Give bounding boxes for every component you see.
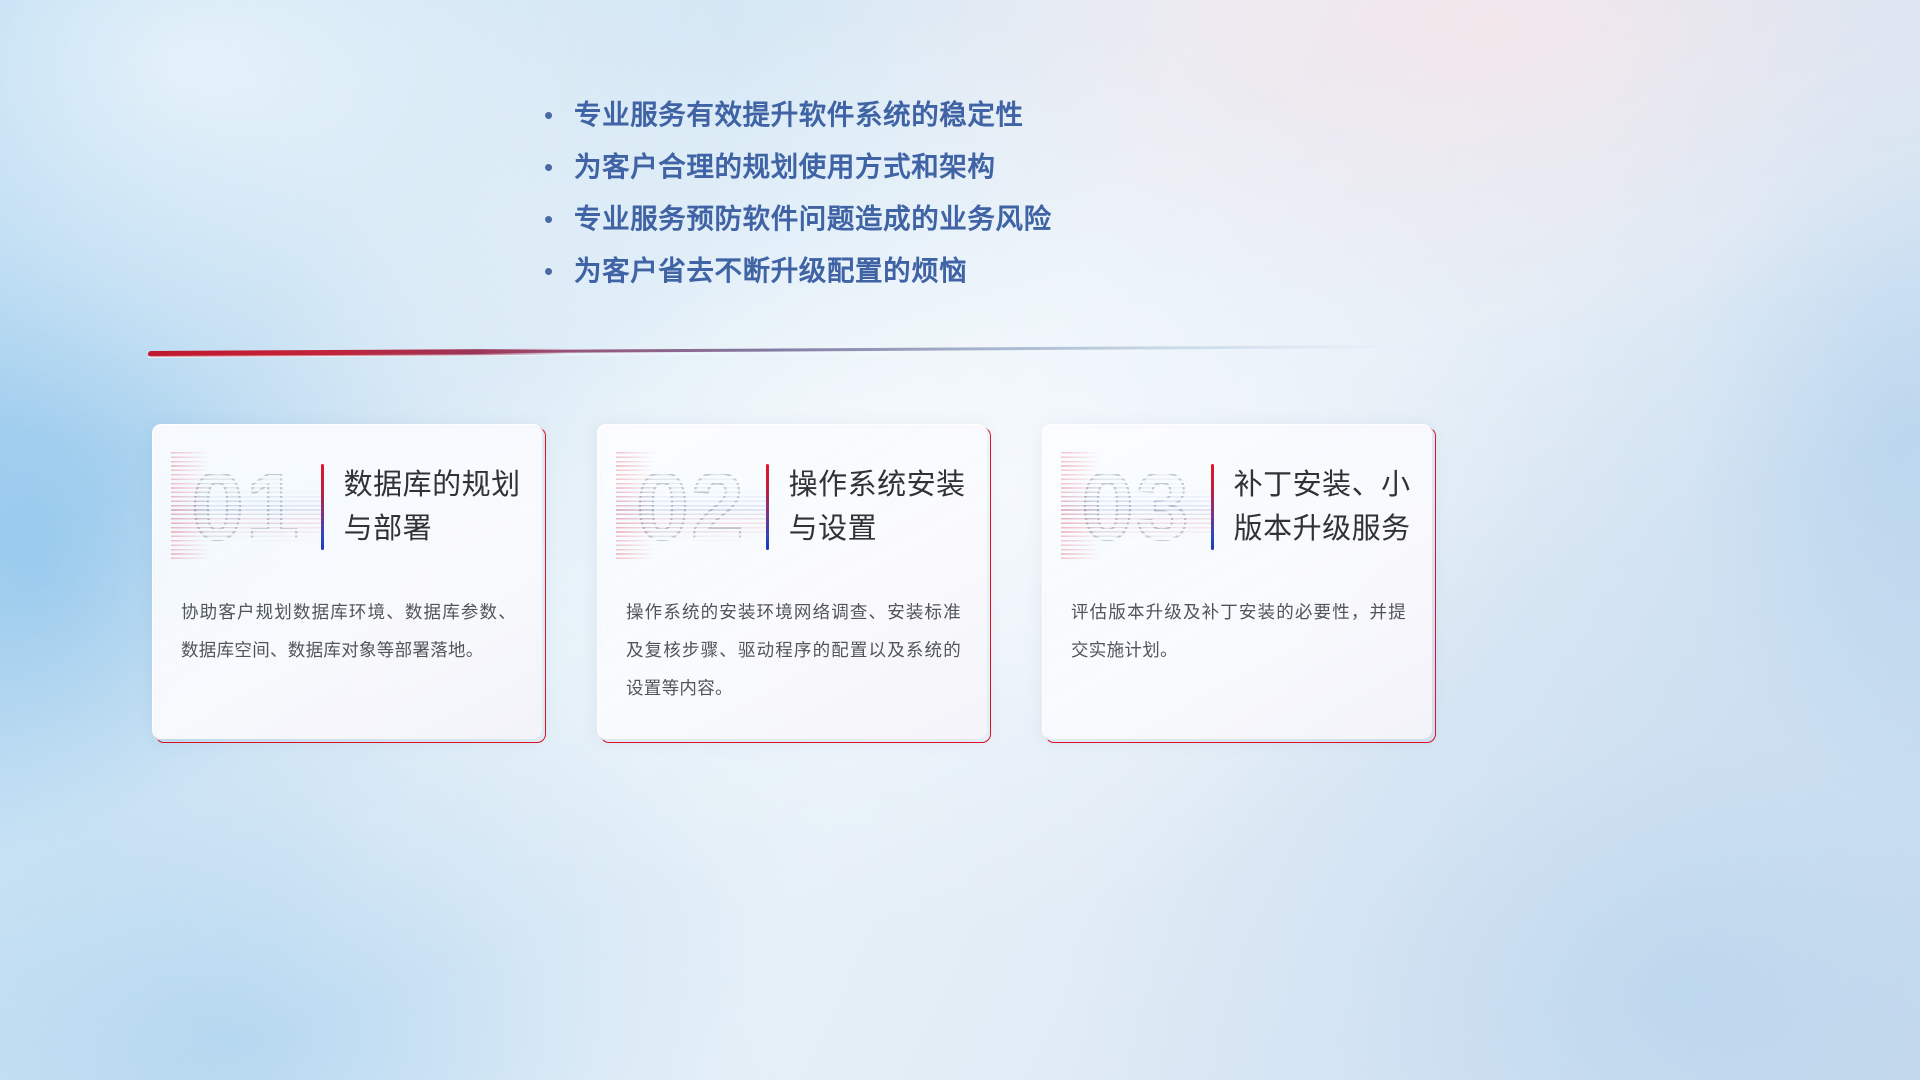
card-number-badge: 02 02 (616, 452, 766, 562)
bullet-dot-icon: • (540, 144, 574, 190)
bullet-item-1: • 专业服务有效提升软件系统的稳定性 (540, 92, 1400, 144)
card-title-line-2: 版本升级服务 (1234, 507, 1418, 551)
card-surface: 03 03 补丁安装、小 版本升级服务 评估版本升级及补丁安装的必要性，并提交实… (1042, 424, 1432, 739)
card-description: 操作系统的安装环境网络调查、安装标准及复核步骤、驱动程序的配置以及系统的设置等内… (626, 593, 961, 707)
card-title-line-1: 操作系统安装 (789, 463, 973, 507)
bullet-text-2: 为客户合理的规划使用方式和架构 (574, 144, 996, 190)
card-description: 协助客户规划数据库环境、数据库参数、数据库空间、数据库对象等部署落地。 (181, 593, 516, 669)
card-number-outline: 03 (1061, 452, 1211, 562)
service-card-01[interactable]: 01 01 数据库的规划 与部署 协助客户规划数据库环境、数据库参数、数据库空间… (152, 424, 542, 739)
benefits-bullet-list: • 专业服务有效提升软件系统的稳定性 • 为客户合理的规划使用方式和架构 • 专… (540, 92, 1400, 300)
card-title-line-1: 数据库的规划 (344, 463, 528, 507)
card-title: 数据库的规划 与部署 (344, 463, 542, 551)
slide-canvas: • 专业服务有效提升软件系统的稳定性 • 为客户合理的规划使用方式和架构 • 专… (0, 0, 1920, 1080)
card-header: 02 02 操作系统安装 与设置 (598, 447, 987, 567)
card-header: 01 01 数据库的规划 与部署 (153, 447, 542, 567)
card-surface: 02 02 操作系统安装 与设置 操作系统的安装环境网络调查、安装标准及复核步骤… (597, 424, 987, 739)
card-header: 03 03 补丁安装、小 版本升级服务 (1043, 447, 1432, 567)
card-title: 补丁安装、小 版本升级服务 (1234, 463, 1432, 551)
card-number-outline: 01 (171, 452, 321, 562)
card-title-line-1: 补丁安装、小 (1234, 463, 1418, 507)
card-accent-bar-icon (766, 464, 769, 550)
card-description: 评估版本升级及补丁安装的必要性，并提交实施计划。 (1071, 593, 1406, 669)
card-title-line-2: 与设置 (789, 507, 973, 551)
card-title: 操作系统安装 与设置 (789, 463, 987, 551)
card-accent-bar-icon (1211, 464, 1214, 550)
service-card-02[interactable]: 02 02 操作系统安装 与设置 操作系统的安装环境网络调查、安装标准及复核步骤… (597, 424, 987, 739)
bullet-dot-icon: • (540, 248, 574, 294)
bullet-text-3: 专业服务预防软件问题造成的业务风险 (574, 196, 1052, 242)
card-accent-bar-icon (321, 464, 324, 550)
bullet-item-3: • 专业服务预防软件问题造成的业务风险 (540, 196, 1400, 248)
section-divider (148, 344, 1448, 366)
bullet-text-1: 专业服务有效提升软件系统的稳定性 (574, 92, 1024, 138)
bullet-text-4: 为客户省去不断升级配置的烦恼 (574, 248, 967, 294)
service-card-list: 01 01 数据库的规划 与部署 协助客户规划数据库环境、数据库参数、数据库空间… (152, 424, 1432, 739)
card-number-badge: 03 03 (1061, 452, 1211, 562)
card-number-outline: 02 (616, 452, 766, 562)
bullet-dot-icon: • (540, 196, 574, 242)
bullet-item-2: • 为客户合理的规划使用方式和架构 (540, 144, 1400, 196)
bullet-dot-icon: • (540, 92, 574, 138)
card-surface: 01 01 数据库的规划 与部署 协助客户规划数据库环境、数据库参数、数据库空间… (152, 424, 542, 739)
card-title-line-2: 与部署 (344, 507, 528, 551)
bullet-item-4: • 为客户省去不断升级配置的烦恼 (540, 248, 1400, 300)
card-number-badge: 01 01 (171, 452, 321, 562)
service-card-03[interactable]: 03 03 补丁安装、小 版本升级服务 评估版本升级及补丁安装的必要性，并提交实… (1042, 424, 1432, 739)
